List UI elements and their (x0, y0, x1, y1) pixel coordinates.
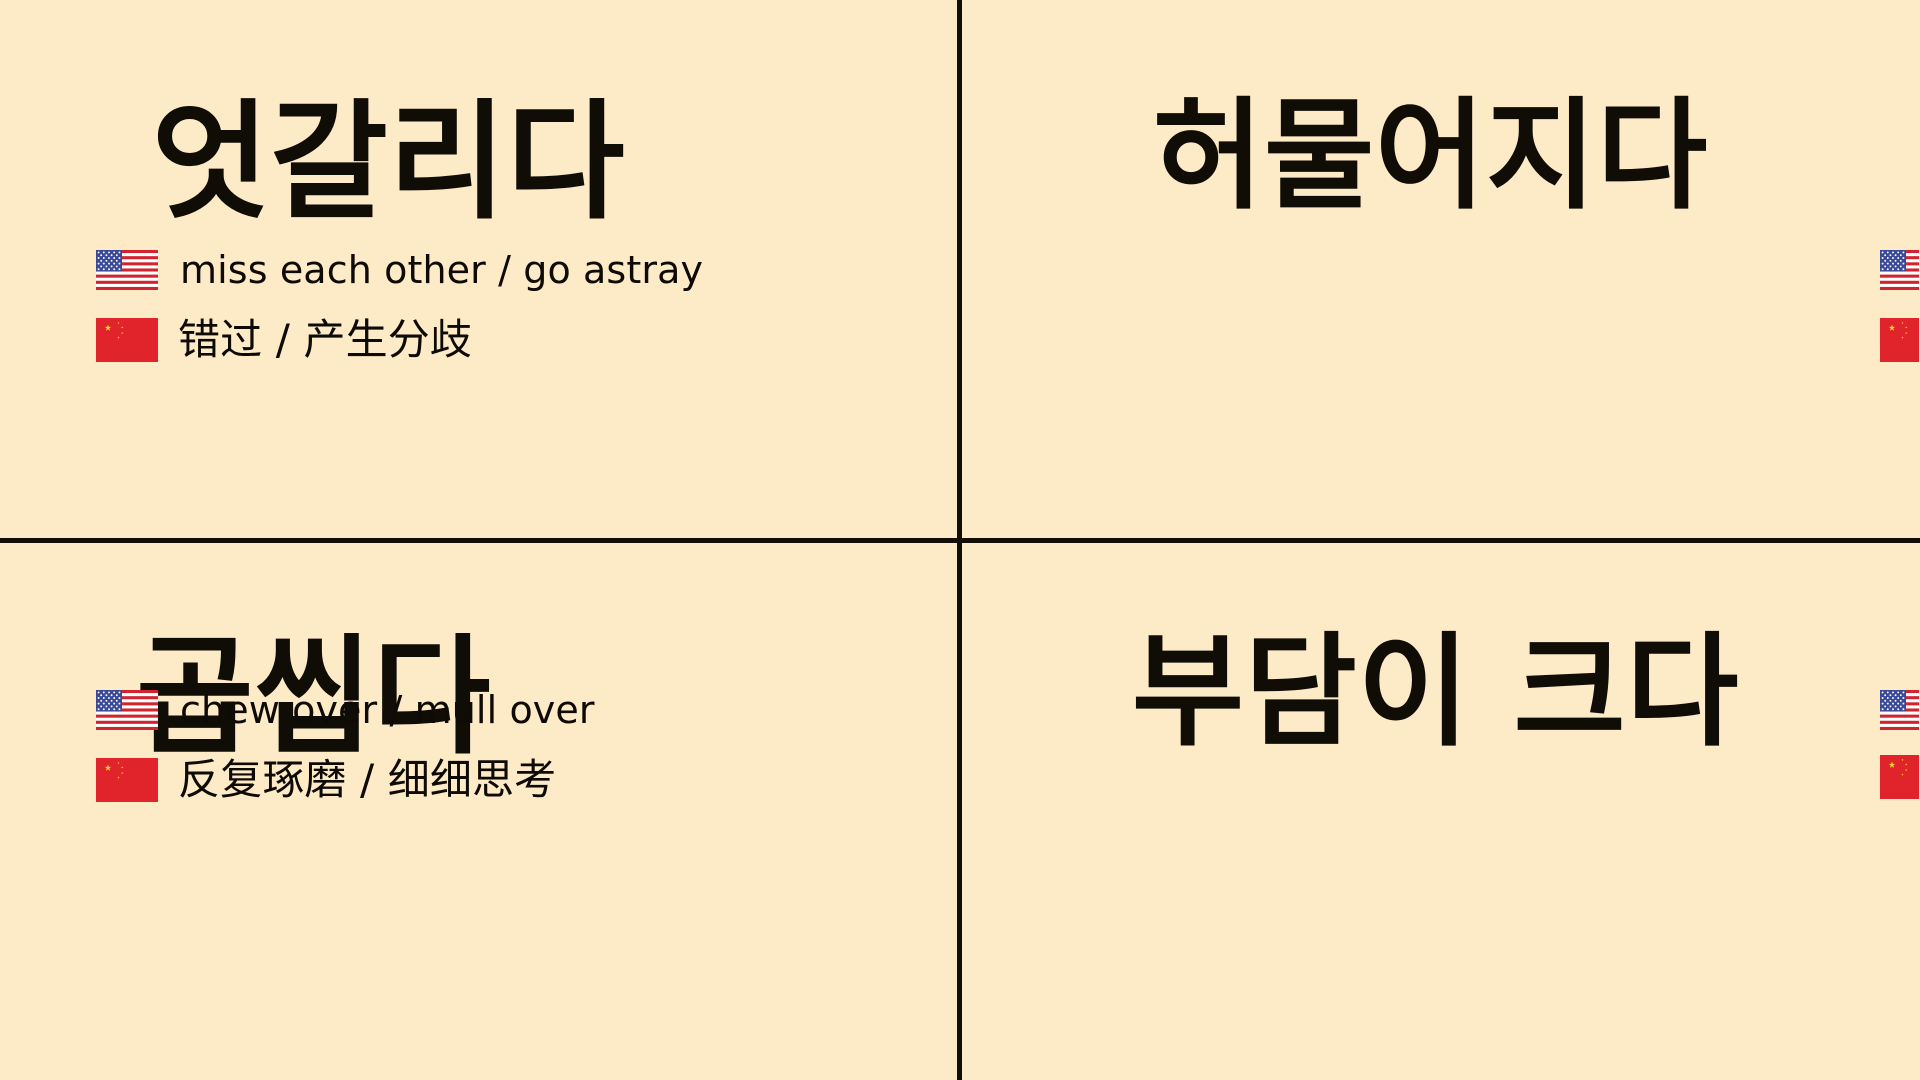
vocab-card-top-left[interactable]: 엇갈리다 (0, 0, 957, 538)
cn-flag-icon (1880, 755, 1919, 799)
gloss-list: be a heavy burden / feel overwhelming (1880, 688, 1919, 822)
korean-headword: 엇갈리다 (0, 58, 957, 243)
chinese-gloss-text: 反复琢磨 / 细细思考 (178, 755, 556, 805)
chinese-gloss-row: 反复琢磨 / 细细思考 (96, 755, 595, 805)
korean-headword: 부담이 크다 (962, 593, 1919, 770)
chinese-gloss-row: overwhelming (1880, 755, 1919, 800)
us-flag-icon (1880, 690, 1919, 730)
english-gloss-row: be a heavy burden / feel (1880, 688, 1919, 733)
vocabulary-card-grid: 엇갈리다 (0, 0, 1920, 1080)
english-gloss-row: chew over / mull over (96, 688, 595, 733)
us-flag-icon (96, 690, 158, 730)
korean-headword: 허물어지다 (962, 58, 1919, 232)
english-gloss-row: collapse / fall apart (1880, 248, 1919, 293)
gloss-list: collapse / fall apart 倒塌 / 崩溃 (1880, 248, 1919, 386)
horizontal-divider (0, 538, 1920, 543)
english-gloss-text: chew over / mull over (180, 688, 595, 733)
chinese-gloss-row: 错过 / 产生分歧 (96, 315, 703, 365)
chinese-gloss-text: 错过 / 产生分歧 (178, 315, 472, 365)
us-flag-icon (96, 250, 158, 290)
cn-flag-icon (1880, 318, 1919, 362)
us-flag-icon (1880, 250, 1919, 290)
cn-flag-icon (96, 318, 158, 362)
english-gloss-row: miss each other / go astray (96, 248, 703, 293)
vocab-card-bottom-left[interactable]: 곱씹다 (0, 543, 957, 1080)
chinese-gloss-row: 倒塌 / 崩溃 (1880, 315, 1919, 365)
vocab-card-top-right[interactable]: 허물어지다 (962, 0, 1919, 538)
gloss-list: chew over / mull over 反复琢磨 / 细细思考 (96, 688, 595, 826)
vocab-card-bottom-right[interactable]: 부담이 크다 (962, 543, 1919, 1080)
gloss-list: miss each other / go astray 错过 / 产生分歧 (96, 248, 703, 386)
english-gloss-text: miss each other / go astray (180, 248, 703, 293)
cn-flag-icon (96, 758, 158, 802)
